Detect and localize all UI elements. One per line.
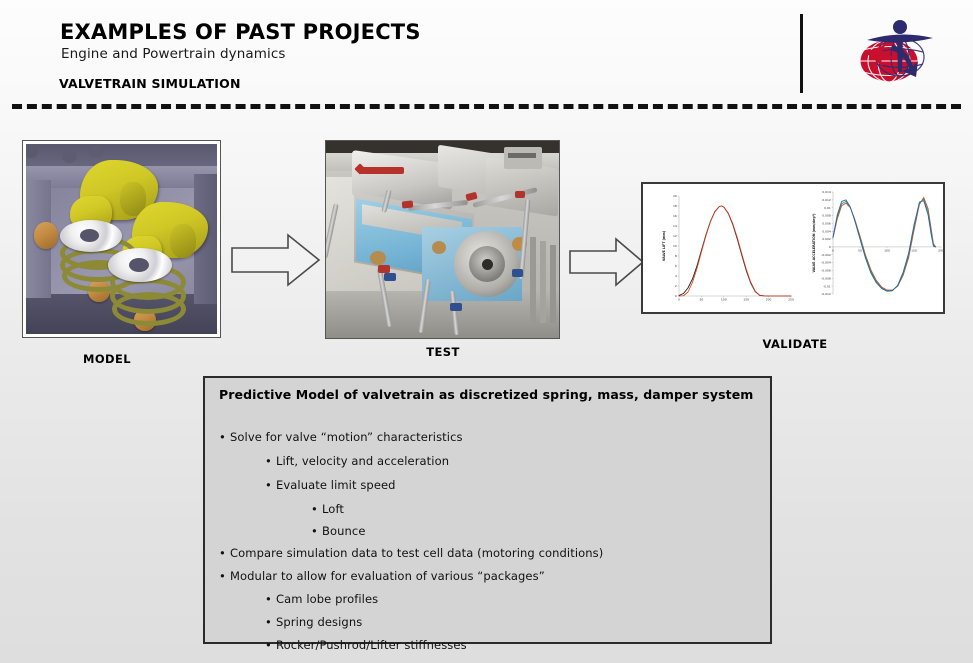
bullet-item: •Bounce (311, 524, 366, 538)
svg-text:8: 8 (675, 254, 677, 258)
valve-acceleration-chart: -0.012-0.01-0.008-0.006-0.004-0.00200.00… (799, 184, 945, 314)
svg-text:0: 0 (675, 294, 677, 298)
bullet-text: Modular to allow for evaluation of vario… (230, 569, 545, 583)
header-separator-bar (800, 14, 803, 93)
bullet-item: •Modular to allow for evaluation of vari… (219, 569, 545, 583)
svg-text:200: 200 (766, 298, 772, 302)
svg-text:12: 12 (673, 234, 677, 238)
flow-arrow-model-to-test (230, 232, 322, 292)
bullet-text: Cam lobe profiles (276, 592, 378, 606)
description-heading: Predictive Model of valvetrain as discre… (219, 387, 753, 402)
svg-text:0.008: 0.008 (822, 214, 831, 218)
engine-dyno-photo (326, 141, 559, 338)
bullet-text: Solve for valve “motion” characteristics (230, 430, 463, 444)
svg-text:-0.01: -0.01 (823, 284, 831, 288)
bullet-marker: • (219, 569, 230, 583)
bullet-text: Spring designs (276, 615, 362, 629)
svg-text:0.006: 0.006 (822, 221, 831, 225)
svg-text:6: 6 (675, 264, 677, 268)
svg-text:150: 150 (743, 298, 749, 302)
svg-text:50: 50 (858, 249, 862, 253)
bullet-marker: • (311, 502, 322, 516)
bullet-text: Evaluate limit speed (276, 478, 396, 492)
bullet-text: Loft (322, 502, 344, 516)
bullet-marker: • (219, 546, 230, 560)
bullet-marker: • (265, 638, 276, 652)
bullet-text: Rocker/Pushrod/Lifter stiffnesses (276, 638, 467, 652)
bullet-item: •Rocker/Pushrod/Lifter stiffnesses (265, 638, 467, 652)
svg-text:10: 10 (673, 244, 677, 248)
svg-text:100: 100 (721, 298, 727, 302)
svg-text:200: 200 (938, 249, 944, 253)
bullet-item: •Solve for valve “motion” characteristic… (219, 430, 463, 444)
bullet-item: •Evaluate limit speed (265, 478, 396, 492)
svg-text:0: 0 (832, 249, 834, 253)
bullet-marker: • (265, 478, 276, 492)
svg-text:18: 18 (673, 204, 677, 208)
svg-text:-0.006: -0.006 (821, 269, 831, 273)
svg-text:CAMSHAFT ANGLE: CAMSHAFT ANGLE (719, 312, 752, 315)
test-image (325, 140, 560, 339)
bullet-item: •Compare simulation data to test cell da… (219, 546, 603, 560)
bullet-marker: • (265, 615, 276, 629)
svg-text:100: 100 (884, 249, 890, 253)
svg-text:0.012: 0.012 (822, 198, 831, 202)
bullet-item: •Lift, velocity and acceleration (265, 454, 449, 468)
svg-text:VALVE LIFT (mm): VALVE LIFT (mm) (662, 230, 666, 261)
bullet-item: •Loft (311, 502, 344, 516)
svg-text:0.004: 0.004 (822, 229, 831, 233)
page-subtitle: Engine and Powertrain dynamics (61, 46, 286, 62)
bullet-marker: • (311, 524, 322, 538)
svg-text:150: 150 (911, 249, 917, 253)
svg-text:-0.008: -0.008 (821, 276, 831, 280)
svg-text:20: 20 (673, 194, 677, 198)
bullet-marker: • (265, 454, 276, 468)
description-box: Predictive Model of valvetrain as discre… (203, 376, 772, 644)
bullet-item: •Cam lobe profiles (265, 592, 378, 606)
globe-figure-logo (845, 14, 941, 92)
bullet-marker: • (265, 592, 276, 606)
valve-lift-chart: 02468101214161820050100150200250CAMSHAFT… (649, 184, 799, 314)
validate-charts: 02468101214161820050100150200250CAMSHAFT… (641, 182, 945, 314)
caption-test: TEST (393, 345, 493, 359)
svg-text:CAMSHAFT ANGLE (deg): CAMSHAFT ANGLE (deg) (865, 312, 909, 315)
bullet-text: Lift, velocity and acceleration (276, 454, 449, 468)
caption-model: MODEL (52, 352, 162, 366)
model-image (22, 140, 221, 338)
svg-text:-0.004: -0.004 (821, 261, 831, 265)
svg-text:0.002: 0.002 (822, 237, 831, 241)
svg-text:4: 4 (675, 274, 677, 278)
svg-text:50: 50 (699, 298, 703, 302)
svg-text:-0.002: -0.002 (821, 253, 831, 257)
bullet-text: Bounce (322, 524, 366, 538)
cad-valvetrain-render (26, 144, 217, 334)
svg-text:2: 2 (675, 284, 677, 288)
svg-text:-0.012: -0.012 (821, 292, 831, 296)
caption-validate: VALIDATE (740, 337, 850, 351)
svg-text:0: 0 (829, 245, 831, 249)
section-title: VALVETRAIN SIMULATION (59, 76, 241, 91)
dashed-divider (12, 104, 961, 109)
flow-arrow-test-to-validate (568, 236, 646, 292)
svg-text:16: 16 (673, 214, 677, 218)
svg-text:0: 0 (678, 298, 680, 302)
svg-text:0.014: 0.014 (822, 190, 831, 194)
svg-text:0.01: 0.01 (824, 206, 831, 210)
bullet-marker: • (219, 430, 230, 444)
slide-header: EXAMPLES OF PAST PROJECTS Engine and Pow… (0, 0, 973, 100)
svg-text:VALVE ACCELERATION (mm/deg²): VALVE ACCELERATION (mm/deg²) (812, 213, 816, 272)
svg-text:250: 250 (788, 298, 794, 302)
bullet-text: Compare simulation data to test cell dat… (230, 546, 603, 560)
page-title: EXAMPLES OF PAST PROJECTS (60, 20, 421, 44)
svg-text:14: 14 (673, 224, 677, 228)
bullet-item: •Spring designs (265, 615, 362, 629)
